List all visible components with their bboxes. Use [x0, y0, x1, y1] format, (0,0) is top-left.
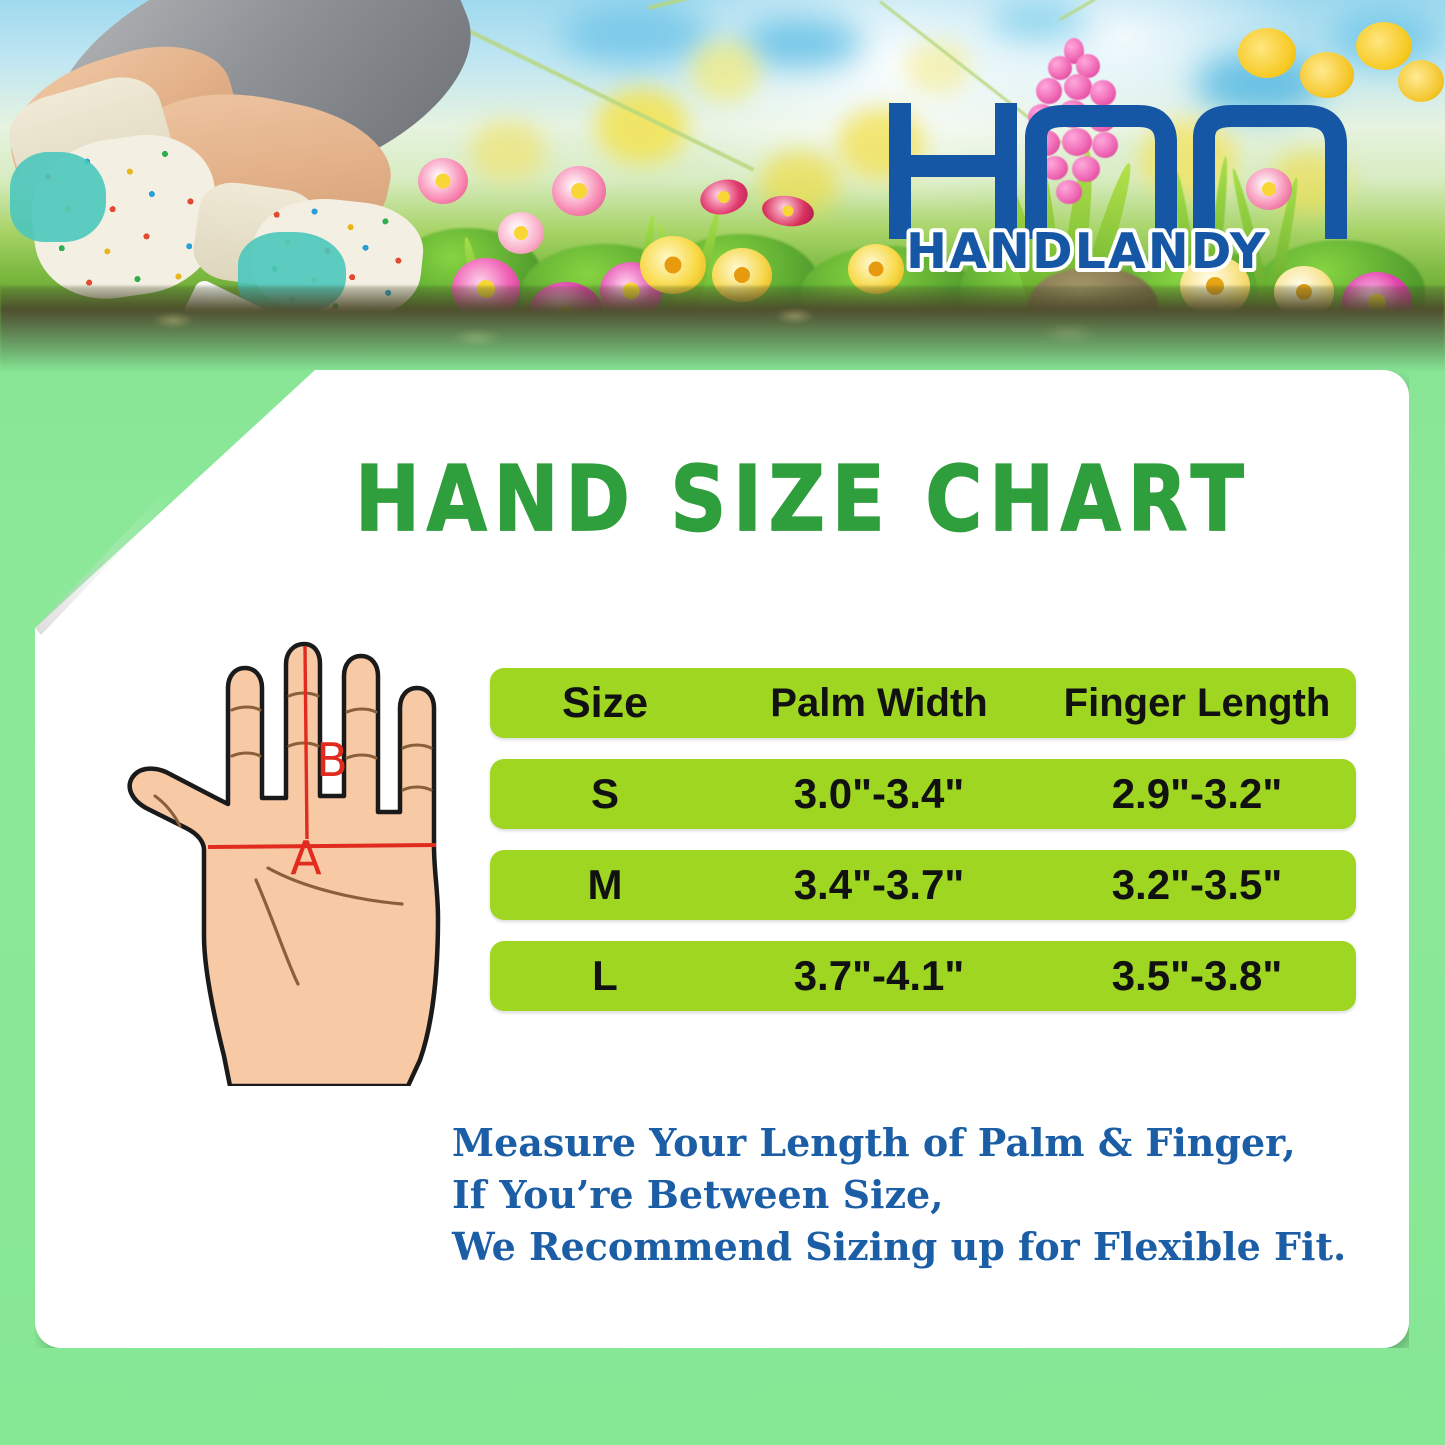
flower-core-icon	[717, 190, 732, 205]
flower-core-icon	[734, 267, 750, 283]
cell-palm-width: 3.4"-3.7"	[720, 861, 1038, 909]
column-header-finger-length: Finger Length	[1038, 681, 1356, 726]
bokeh-icon	[470, 120, 546, 182]
cell-finger-length: 2.9"-3.2"	[1038, 770, 1356, 818]
column-header-palm-width: Palm Width	[720, 681, 1038, 726]
daffodil-icon	[1398, 60, 1444, 102]
svg-text:HANDLANDY: HANDLANDY	[906, 223, 1267, 276]
daffodil-icon	[1356, 22, 1412, 70]
hand-shape	[130, 644, 438, 1086]
brand-logo: HANDLANDY HANDLANDY	[886, 96, 1356, 276]
daisy-icon	[498, 212, 544, 254]
cell-size: M	[490, 861, 720, 909]
size-chart-page: HANDLANDY HANDLANDY HAND SIZE CHART	[0, 0, 1445, 1445]
cell-finger-length: 3.2"-3.5"	[1038, 861, 1356, 909]
cell-palm-width: 3.0"-3.4"	[720, 770, 1038, 818]
table-row: L 3.7"-4.1" 3.5"-3.8"	[490, 941, 1356, 1011]
daffodil-icon	[1300, 52, 1354, 98]
column-header-size: Size	[490, 679, 720, 728]
soil-strip	[0, 286, 1445, 372]
palm-width-label: A	[290, 831, 322, 885]
cell-size: L	[490, 952, 720, 1000]
table-row: S 3.0"-3.4" 2.9"-3.2"	[490, 759, 1356, 829]
table-header-row: Size Palm Width Finger Length	[490, 668, 1356, 738]
flower-core-icon	[782, 205, 794, 217]
finger-length-label: B	[316, 733, 348, 787]
cell-size: S	[490, 770, 720, 818]
flower-core-icon	[514, 226, 528, 240]
table-row: M 3.4"-3.7" 3.2"-3.5"	[490, 850, 1356, 920]
flower-core-icon	[436, 174, 451, 189]
sky-patch-icon	[990, 0, 1086, 40]
size-chart-table: Size Palm Width Finger Length S 3.0"-3.4…	[490, 668, 1356, 1011]
sky-patch-icon	[742, 18, 862, 68]
daffodil-icon	[1238, 28, 1296, 78]
bokeh-icon	[690, 40, 760, 102]
flower-core-icon	[665, 257, 682, 274]
flower-core-icon	[869, 262, 884, 277]
flower-core-icon	[571, 183, 587, 199]
page-title: HAND SIZE CHART	[355, 447, 1250, 551]
daisy-icon	[418, 158, 468, 204]
cell-finger-length: 3.5"-3.8"	[1038, 952, 1356, 1000]
note-line-1: Measure Your Length of Palm & Finger,	[452, 1117, 1346, 1169]
note-line-3: We Recommend Sizing up for Flexible Fit.	[452, 1221, 1346, 1273]
daisy-icon	[552, 166, 606, 216]
sky-patch-icon	[560, 6, 710, 64]
cell-palm-width: 3.7"-4.1"	[720, 952, 1038, 1000]
glove-mesh-icon	[10, 152, 106, 242]
note-line-2: If You’re Between Size,	[452, 1169, 1346, 1221]
hand-measurement-diagram: A B	[108, 636, 480, 1086]
sizing-note: Measure Your Length of Palm & Finger, If…	[452, 1117, 1346, 1273]
